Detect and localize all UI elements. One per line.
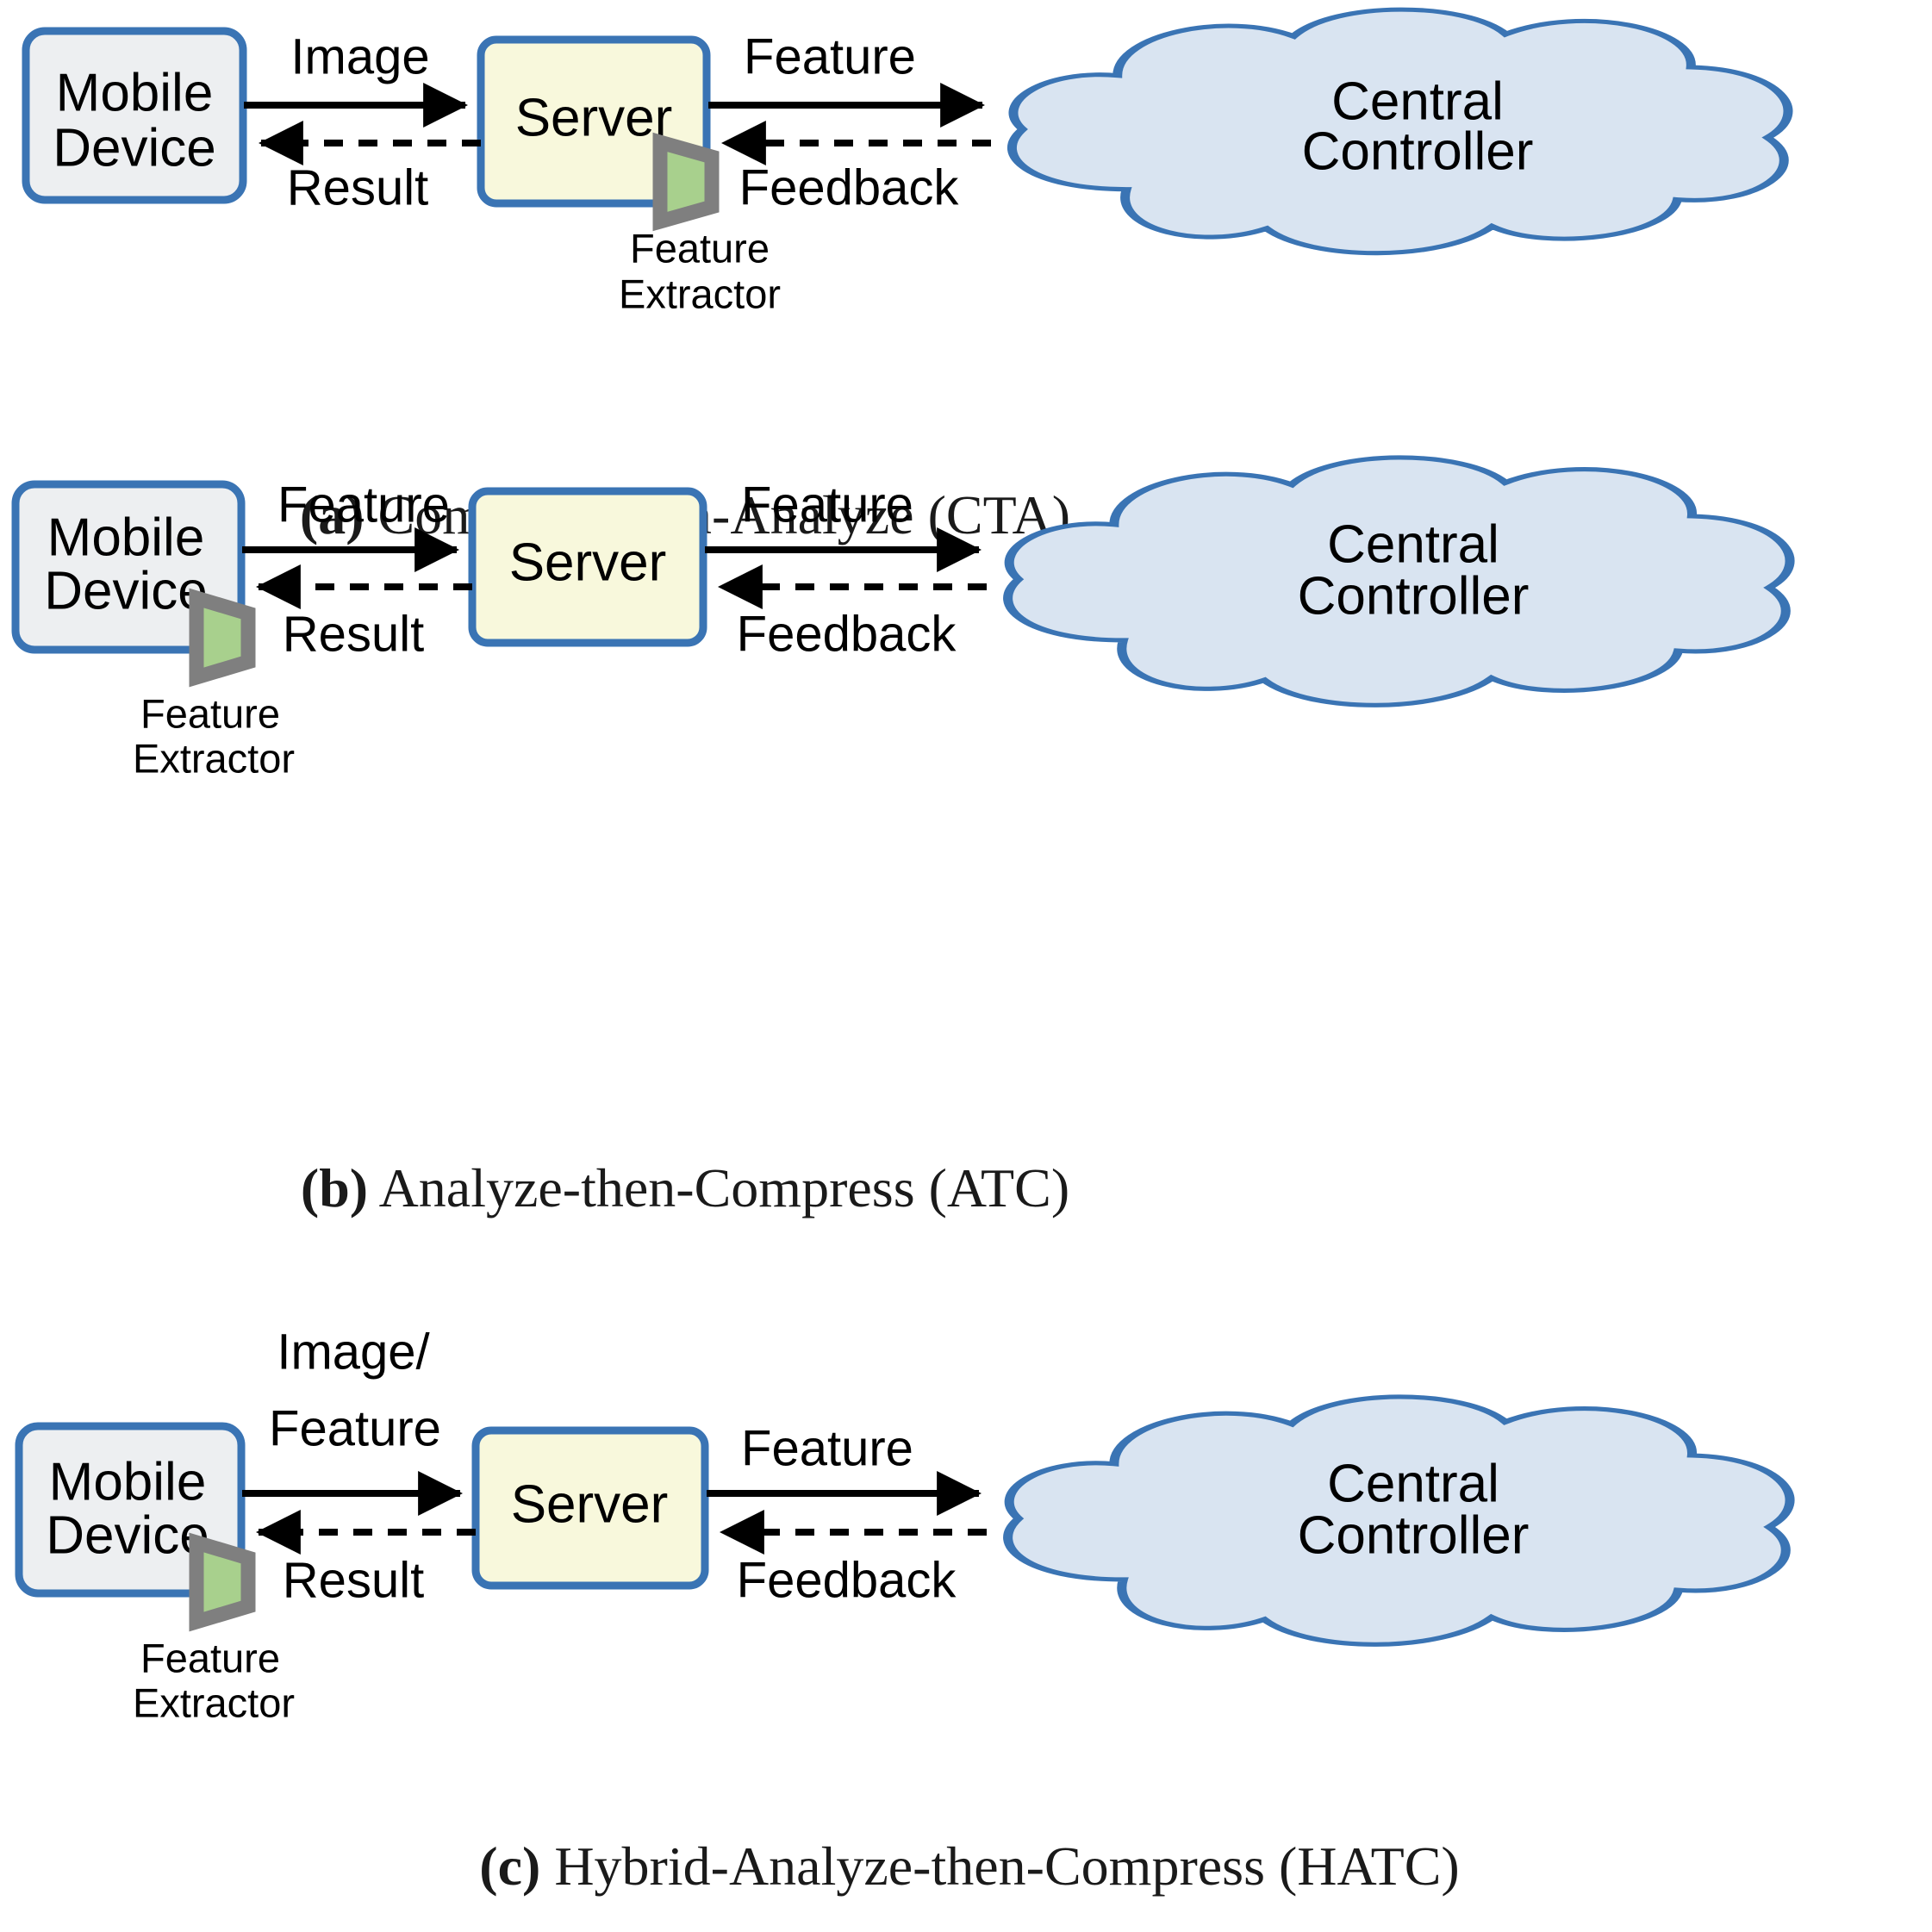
- panel-c-edge-label-image-line1: Image/: [277, 1324, 430, 1380]
- panel-a-edge-label-result: Result: [287, 159, 428, 215]
- panel-a-server-label: Server: [515, 88, 673, 147]
- panel-b-device-label-line1: Mobile: [47, 508, 205, 567]
- panel-a: Mobile Device Server Feature Extractor C…: [26, 9, 1788, 545]
- panel-b-device-label-line2: Device: [44, 561, 208, 620]
- panel-b: Mobile Device Feature Extractor Server C…: [16, 458, 1790, 1218]
- panel-b-edge-label-feature-cloud: Feature: [741, 477, 913, 533]
- panel-a-edge-label-feedback: Feedback: [739, 159, 960, 215]
- panel-c-caption: (c) Hybrid-Analyze-then-Compress (HATC): [479, 1835, 1459, 1897]
- architecture-diagram: Mobile Device Server Feature Extractor C…: [0, 0, 1932, 1932]
- panel-c-device-label-line1: Mobile: [49, 1452, 207, 1511]
- panel-b-extractor-label-line2: Extractor: [133, 735, 295, 781]
- panel-c-extractor-label-line2: Extractor: [133, 1680, 295, 1725]
- panel-b-server-node[interactable]: Server: [472, 491, 703, 643]
- panel-b-caption: (b) Analyze-then-Compress (ATC): [301, 1157, 1069, 1218]
- panel-b-caption-text: Analyze-then-Compress (ATC): [379, 1157, 1070, 1218]
- panel-c-server-node[interactable]: Server: [476, 1430, 705, 1586]
- panel-c-edge-label-result: Result: [283, 1552, 424, 1608]
- panel-c-cloud-label-line2: Controller: [1298, 1505, 1530, 1565]
- panel-b-edge-label-feedback: Feedback: [737, 606, 957, 662]
- panel-c-caption-tag: (c): [479, 1835, 540, 1897]
- feature-extractor-icon: [196, 598, 248, 677]
- panel-c: Mobile Device Feature Extractor Server C…: [19, 1324, 1790, 1896]
- panel-a-extractor-label-line2: Extractor: [619, 271, 781, 316]
- panel-b-edge-label-feature-up: Feature: [277, 477, 450, 533]
- feature-extractor-icon: [660, 142, 712, 221]
- panel-c-server-label: Server: [511, 1474, 669, 1534]
- panel-c-caption-text: Hybrid-Analyze-then-Compress (HATC): [554, 1835, 1459, 1897]
- panel-c-edge-label-feature-line2: Feature: [269, 1400, 441, 1456]
- panel-a-edge-label-image: Image: [290, 28, 429, 84]
- panel-c-edge-label-feedback: Feedback: [737, 1552, 957, 1608]
- panel-c-cloud-label-line1: Central: [1327, 1454, 1499, 1513]
- panel-c-device-label-line2: Device: [46, 1505, 209, 1565]
- feature-extractor-icon: [196, 1542, 248, 1622]
- diagram-page: Mobile Device Server Feature Extractor C…: [0, 0, 1932, 1932]
- panel-c-edge-label-feature-cloud: Feature: [741, 1420, 913, 1476]
- panel-a-device-label-line2: Device: [53, 118, 216, 178]
- panel-b-extractor-label-line1: Feature: [140, 690, 280, 736]
- panel-a-extractor-label-line1: Feature: [630, 225, 770, 271]
- panel-a-cloud-label-line2: Controller: [1302, 122, 1534, 181]
- panel-b-server-label: Server: [509, 533, 667, 592]
- panel-b-cloud-label-line1: Central: [1327, 514, 1499, 574]
- panel-b-caption-tag: (b): [301, 1157, 368, 1218]
- panel-c-extractor-label-line1: Feature: [140, 1635, 280, 1680]
- panel-a-device-label-line1: Mobile: [56, 63, 214, 122]
- panel-a-mobile-device-node[interactable]: Mobile Device: [26, 31, 243, 200]
- panel-b-edge-label-result: Result: [283, 606, 424, 662]
- panel-b-cloud-label-line2: Controller: [1298, 566, 1530, 626]
- panel-a-edge-label-feature: Feature: [744, 28, 916, 84]
